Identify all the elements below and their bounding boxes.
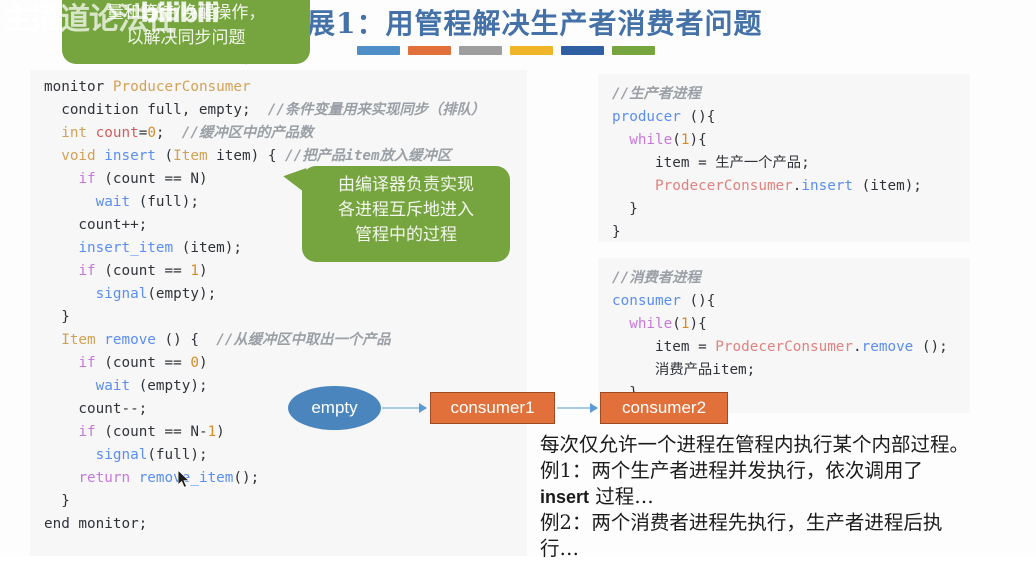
code-token: //把产品item放入缓冲区 bbox=[285, 148, 451, 164]
title-bar-5 bbox=[561, 46, 604, 55]
code-token: Item bbox=[61, 332, 104, 348]
code-token: () { bbox=[156, 332, 216, 348]
code-token: (){ bbox=[681, 293, 715, 309]
page-title: 拓展1：用管程解决生产者消费者问题 bbox=[278, 2, 762, 42]
callout-compiler-tail bbox=[283, 168, 312, 202]
consumer-code-panel: //消费者进程consumer (){ while(1){ item = Pro… bbox=[598, 258, 970, 413]
bottom-note-line-2: 例1：两个生产者进程并发执行，依次调用了 bbox=[540, 458, 1030, 484]
code-token: ; bbox=[156, 125, 182, 141]
code-line: end monitor; bbox=[44, 513, 527, 536]
code-token: } bbox=[612, 201, 638, 217]
code-line: } bbox=[612, 221, 970, 244]
code-token: if bbox=[78, 263, 95, 279]
flow-node-empty: empty bbox=[288, 386, 381, 430]
code-line: signal(empty); bbox=[44, 283, 527, 306]
code-token bbox=[44, 148, 61, 164]
code-line: item = ProdecerConsumer.remove (); bbox=[612, 336, 970, 359]
code-token: ) bbox=[199, 355, 208, 371]
code-token bbox=[612, 178, 655, 194]
code-token bbox=[44, 447, 96, 463]
code-token bbox=[44, 355, 78, 371]
code-token: if bbox=[78, 424, 95, 440]
code-token: ) bbox=[199, 263, 208, 279]
code-token: (full); bbox=[130, 194, 199, 210]
title-bar-2 bbox=[408, 46, 451, 55]
code-line: Item remove () { //从缓冲区中取出一个产品 bbox=[44, 329, 527, 352]
code-token: 0 bbox=[147, 125, 156, 141]
callout-sync-line2: 量和等待/唤醒操作， bbox=[72, 1, 300, 26]
bottom-note-line-3-rest: 过程… bbox=[589, 485, 654, 508]
bottom-note-line-5: 行… bbox=[540, 536, 1030, 562]
code-token bbox=[44, 240, 78, 256]
flow-node-consumer2: consumer2 bbox=[600, 392, 728, 424]
callout-compiler-line1: 由编译器负责实现 bbox=[310, 173, 502, 198]
code-line: consumer (){ bbox=[612, 290, 970, 313]
bottom-note: 每次仅允许一个进程在管程内执行某个内部过程。 例1：两个生产者进程并发执行，依次… bbox=[540, 432, 1030, 562]
code-token: return bbox=[78, 470, 138, 486]
code-token: remove bbox=[862, 339, 914, 355]
callout-compiler-line3: 管程中的过程 bbox=[310, 223, 502, 248]
code-line: producer (){ bbox=[612, 106, 970, 129]
code-line: if (count == 0) bbox=[44, 352, 527, 375]
code-token: ProdecerConsumer bbox=[715, 339, 853, 355]
code-token: end monitor; bbox=[44, 516, 147, 532]
title-bar-1 bbox=[357, 46, 400, 55]
code-line: //生产者进程 bbox=[612, 83, 970, 106]
code-token bbox=[44, 286, 96, 302]
code-token: monitor bbox=[44, 79, 113, 95]
flow-node-consumer1: consumer1 bbox=[430, 392, 555, 424]
code-token: (item); bbox=[853, 178, 922, 194]
code-token: wait bbox=[96, 378, 130, 394]
code-token: insert bbox=[801, 178, 853, 194]
code-token: 消费产品item; bbox=[612, 362, 755, 378]
code-token: void bbox=[61, 148, 104, 164]
code-token: item = 生产一个产品; bbox=[612, 155, 810, 171]
slide-root: 拓展1：用管程解决生产者消费者问题 monitor ProducerConsum… bbox=[0, 0, 1036, 556]
code-token: (count == bbox=[96, 263, 191, 279]
code-token: //从缓冲区中取出一个产品 bbox=[216, 332, 390, 348]
title-decoration-bars bbox=[357, 46, 655, 55]
code-token: consumer bbox=[612, 293, 681, 309]
code-line: } bbox=[44, 490, 527, 513]
code-token: ){ bbox=[689, 316, 706, 332]
code-token: signal bbox=[96, 447, 148, 463]
code-line: condition full, empty; //条件变量用来实现同步（排队） bbox=[44, 99, 527, 122]
title-bar-3 bbox=[459, 46, 502, 55]
code-token bbox=[44, 470, 78, 486]
code-token: ( bbox=[672, 316, 681, 332]
producer-code-panel: //生产者进程producer (){ while(1){ item = 生产一… bbox=[598, 74, 970, 242]
code-token: remove bbox=[104, 332, 156, 348]
code-token: 0 bbox=[190, 355, 199, 371]
flow-arrow-consumer1-to-consumer2 bbox=[557, 407, 597, 409]
code-token: //生产者进程 bbox=[612, 86, 701, 102]
code-token: } bbox=[44, 309, 70, 325]
bottom-note-line-4: 例2：两个消费者进程先执行，生产者进程后执 bbox=[540, 510, 1030, 536]
code-token: ProducerConsumer bbox=[113, 79, 251, 95]
code-token: Item bbox=[173, 148, 207, 164]
code-token: ProdecerConsumer bbox=[655, 178, 793, 194]
code-line: item = 生产一个产品; bbox=[612, 152, 970, 175]
code-token: (empty); bbox=[130, 378, 207, 394]
code-token: count++; bbox=[44, 217, 147, 233]
code-line: } bbox=[44, 306, 527, 329]
code-token bbox=[44, 125, 61, 141]
code-token: count--; bbox=[44, 401, 147, 417]
code-token: (); bbox=[233, 470, 259, 486]
flow-arrow-empty-to-consumer1 bbox=[382, 407, 426, 409]
code-token: condition full, empty; bbox=[44, 102, 268, 118]
code-token bbox=[44, 194, 96, 210]
code-token: //缓冲区中的产品数 bbox=[182, 125, 314, 141]
code-token: //消费者进程 bbox=[612, 270, 701, 286]
title-bar-6 bbox=[612, 46, 655, 55]
code-token: . bbox=[853, 339, 862, 355]
code-token: insert bbox=[104, 148, 164, 164]
code-token: signal bbox=[96, 286, 148, 302]
code-token bbox=[612, 316, 629, 332]
code-token bbox=[612, 132, 629, 148]
code-token: if bbox=[78, 171, 95, 187]
code-line: signal(full); bbox=[44, 444, 527, 467]
code-line: } bbox=[612, 198, 970, 221]
code-token bbox=[44, 263, 78, 279]
code-token: item) { bbox=[208, 148, 285, 164]
code-token: producer bbox=[612, 109, 681, 125]
monitor-code-panel: monitor ProducerConsumer condition full,… bbox=[30, 70, 527, 556]
code-token: (count == N) bbox=[96, 171, 208, 187]
code-token: (count == bbox=[96, 355, 191, 371]
code-token: if bbox=[78, 355, 95, 371]
code-token: ( bbox=[672, 132, 681, 148]
code-token: while bbox=[629, 316, 672, 332]
bottom-note-line-3: insert 过程… bbox=[540, 484, 1030, 510]
code-token: (full); bbox=[147, 447, 207, 463]
code-token: int bbox=[61, 125, 95, 141]
callout-sync: 程中设置条件变 量和等待/唤醒操作， 以解决同步问题 bbox=[62, 0, 310, 64]
code-line: //消费者进程 bbox=[612, 267, 970, 290]
code-token: count bbox=[96, 125, 139, 141]
code-token: } bbox=[44, 493, 70, 509]
callout-compiler: 由编译器负责实现 各进程互斥地进入 管程中的过程 bbox=[302, 166, 510, 262]
code-line: void insert (Item item) { //把产品item放入缓冲区 bbox=[44, 145, 527, 168]
code-token: while bbox=[629, 132, 672, 148]
code-line: monitor ProducerConsumer bbox=[44, 76, 527, 99]
code-line: int count=0; //缓冲区中的产品数 bbox=[44, 122, 527, 145]
code-token: (item); bbox=[173, 240, 242, 256]
code-token bbox=[44, 332, 61, 348]
code-token: 1 bbox=[190, 263, 199, 279]
code-line: if (count == N-1) bbox=[44, 421, 527, 444]
title-bar-4 bbox=[510, 46, 553, 55]
code-token bbox=[44, 171, 78, 187]
code-token bbox=[44, 424, 78, 440]
code-token: wait bbox=[96, 194, 130, 210]
code-line: while(1){ bbox=[612, 313, 970, 336]
code-token: (empty); bbox=[147, 286, 216, 302]
code-line: 消费产品item; bbox=[612, 359, 970, 382]
code-line: if (count == 1) bbox=[44, 260, 527, 283]
code-token: (){ bbox=[681, 109, 715, 125]
code-token: (); bbox=[913, 339, 947, 355]
code-token: } bbox=[612, 224, 621, 240]
code-token: item = bbox=[612, 339, 715, 355]
code-token bbox=[44, 378, 96, 394]
code-token: insert_item bbox=[78, 240, 173, 256]
code-line: while(1){ bbox=[612, 129, 970, 152]
code-token: ( bbox=[165, 148, 174, 164]
code-token: ){ bbox=[689, 132, 706, 148]
code-token: 1 bbox=[208, 424, 217, 440]
bottom-note-keyword: insert bbox=[540, 487, 589, 507]
bottom-note-line-1: 每次仅允许一个进程在管程内执行某个内部过程。 bbox=[540, 432, 1030, 458]
code-token: //条件变量用来实现同步（排队） bbox=[268, 102, 485, 118]
code-line: ProdecerConsumer.insert (item); bbox=[612, 175, 970, 198]
callout-compiler-line2: 各进程互斥地进入 bbox=[310, 198, 502, 223]
code-line: return remove_item(); bbox=[44, 467, 527, 490]
code-token: (count == N- bbox=[96, 424, 208, 440]
code-token: ) bbox=[216, 424, 225, 440]
